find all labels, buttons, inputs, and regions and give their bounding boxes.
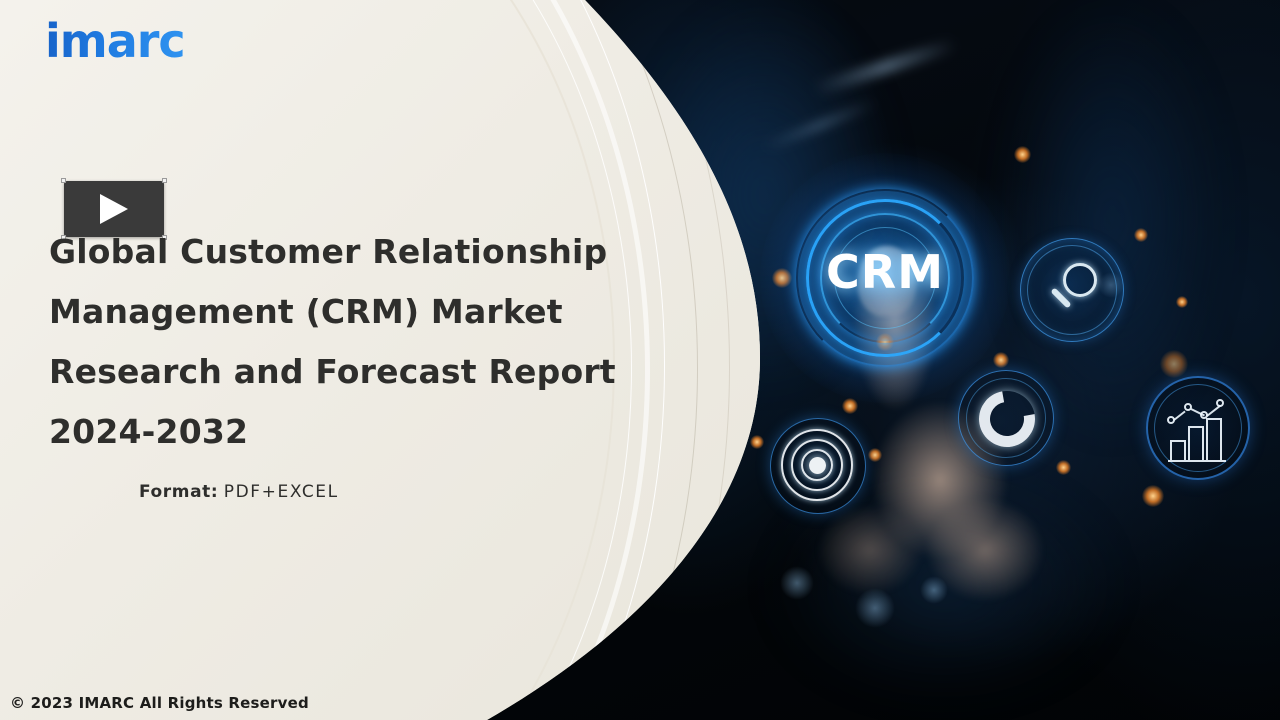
target-icon-center — [809, 457, 826, 474]
bar-chart-icon — [1146, 376, 1250, 480]
bokeh-light — [993, 352, 1009, 368]
format-value: PDF+EXCEL — [224, 482, 339, 502]
search-icon-lens — [1063, 263, 1097, 297]
bar-chart-icon-bar — [1188, 426, 1204, 460]
bokeh-light — [920, 576, 948, 604]
bokeh-light — [1014, 146, 1031, 163]
play-icon — [100, 194, 128, 224]
bokeh-light — [780, 566, 814, 600]
page-title-line: 2024-2032 — [49, 402, 689, 462]
bokeh-light — [1176, 296, 1188, 308]
bokeh-light — [868, 448, 882, 462]
bar-chart-icon-bar — [1170, 440, 1186, 460]
bokeh-light — [842, 398, 858, 414]
bar-chart-icon-node — [1167, 416, 1175, 424]
bokeh-light — [1056, 460, 1071, 475]
page-title: Global Customer Relationship Management … — [49, 222, 689, 462]
crm-hero-ring: CRM — [800, 193, 970, 363]
selection-handle-top-left[interactable] — [61, 178, 66, 183]
loading-ring-icon — [958, 370, 1054, 466]
page-title-line: Global Customer Relationship — [49, 222, 689, 282]
format-label: Format: — [139, 482, 218, 502]
format-line: Format: PDF+EXCEL — [139, 482, 339, 502]
bokeh-light — [1134, 228, 1148, 242]
bar-chart-icon-node — [1200, 411, 1208, 419]
bar-chart-icon-node — [1184, 403, 1192, 411]
copyright-notice: © 2023 IMARC All Rights Reserved — [10, 694, 309, 712]
target-icon — [770, 418, 866, 514]
bar-chart-icon-bar — [1206, 418, 1222, 460]
imarc-logo[interactable]: imarc — [45, 18, 185, 64]
bokeh-light — [855, 588, 895, 628]
slide-root: CRM — [0, 0, 1280, 720]
selection-handle-top-right[interactable] — [162, 178, 167, 183]
crm-label: CRM — [800, 245, 970, 299]
search-icon — [1020, 238, 1124, 342]
bokeh-light — [750, 435, 764, 449]
page-title-line: Research and Forecast Report — [49, 342, 689, 402]
bokeh-light — [1160, 350, 1188, 378]
page-title-line: Management (CRM) Market — [49, 282, 689, 342]
bokeh-light — [1142, 485, 1164, 507]
bar-chart-icon-axis — [1168, 460, 1226, 462]
bar-chart-icon-node — [1216, 399, 1224, 407]
